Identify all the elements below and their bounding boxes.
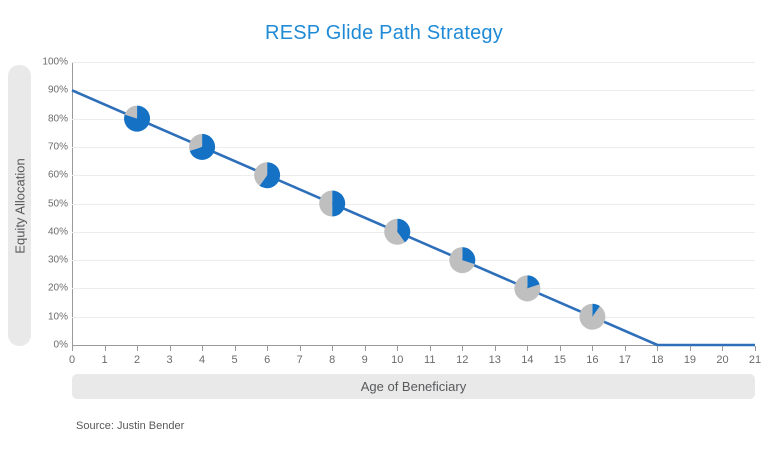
y-tick-label: 0% (34, 340, 68, 351)
x-tick-label: 21 (743, 354, 767, 366)
x-tick-label: 12 (450, 354, 474, 366)
x-axis-ticks (72, 346, 755, 352)
y-tick-label: 70% (34, 141, 68, 152)
x-tick-label: 17 (613, 354, 637, 366)
x-tick-label: 19 (678, 354, 702, 366)
x-axis-title-box: Age of Beneficiary (72, 374, 755, 399)
x-tick-label: 7 (288, 354, 312, 366)
x-tick-label: 11 (418, 354, 442, 366)
x-tick (495, 346, 496, 351)
x-tick (462, 346, 463, 351)
pie-marker (124, 106, 150, 132)
pie-marker (254, 162, 280, 188)
chart-title: RESP Glide Path Strategy (0, 22, 768, 45)
x-tick-label: 4 (190, 354, 214, 366)
x-tick-label: 15 (548, 354, 572, 366)
source-note: Source: Justin Bender (76, 420, 184, 432)
glide-path-line (72, 62, 755, 345)
x-tick-label: 9 (353, 354, 377, 366)
x-tick-label: 20 (710, 354, 734, 366)
y-axis-tick-labels: 0%10%20%30%40%50%60%70%80%90%100% (30, 62, 68, 345)
x-tick (397, 346, 398, 351)
x-tick (755, 346, 756, 351)
x-tick (332, 346, 333, 351)
y-axis-title-box: Equity Allocation (8, 65, 31, 346)
x-tick (527, 346, 528, 351)
x-tick-label: 13 (483, 354, 507, 366)
x-tick-label: 5 (223, 354, 247, 366)
series-line (72, 90, 755, 345)
x-tick-label: 2 (125, 354, 149, 366)
x-tick-label: 3 (158, 354, 182, 366)
x-tick-label: 0 (60, 354, 84, 366)
x-tick-label: 16 (580, 354, 604, 366)
plot-area (72, 62, 755, 345)
y-tick-label: 80% (34, 113, 68, 124)
pie-marker (189, 134, 215, 160)
pie-marker (319, 191, 345, 217)
pie-slice-equity (332, 191, 345, 217)
x-tick-label: 8 (320, 354, 344, 366)
x-tick (657, 346, 658, 351)
y-tick-label: 20% (34, 283, 68, 294)
pie-marker (514, 275, 540, 301)
x-tick (105, 346, 106, 351)
x-tick (690, 346, 691, 351)
y-tick-label: 100% (34, 57, 68, 68)
x-tick (267, 346, 268, 351)
x-axis-tick-labels: 0123456789101112131415161718192021 (72, 354, 755, 370)
y-tick-label: 30% (34, 255, 68, 266)
x-tick (137, 346, 138, 351)
x-tick (72, 346, 73, 351)
x-tick (202, 346, 203, 351)
x-tick (170, 346, 171, 351)
x-tick-label: 1 (93, 354, 117, 366)
x-tick (365, 346, 366, 351)
pie-marker (449, 247, 475, 273)
x-tick-label: 10 (385, 354, 409, 366)
x-tick (722, 346, 723, 351)
pie-marker (579, 304, 605, 330)
y-tick-label: 10% (34, 311, 68, 322)
x-tick (300, 346, 301, 351)
x-tick-label: 14 (515, 354, 539, 366)
pie-slice-fixed-income (579, 304, 605, 330)
pie-slice-fixed-income (319, 191, 332, 217)
y-tick-label: 90% (34, 85, 68, 96)
x-tick (592, 346, 593, 351)
x-tick-label: 6 (255, 354, 279, 366)
x-tick (560, 346, 561, 351)
x-axis-title: Age of Beneficiary (72, 374, 755, 399)
pie-marker (384, 219, 410, 245)
x-tick (625, 346, 626, 351)
y-axis-title: Equity Allocation (12, 158, 27, 253)
x-tick (235, 346, 236, 351)
y-tick-label: 60% (34, 170, 68, 181)
x-tick-label: 18 (645, 354, 669, 366)
y-tick-label: 40% (34, 226, 68, 237)
y-tick-label: 50% (34, 198, 68, 209)
x-tick (430, 346, 431, 351)
